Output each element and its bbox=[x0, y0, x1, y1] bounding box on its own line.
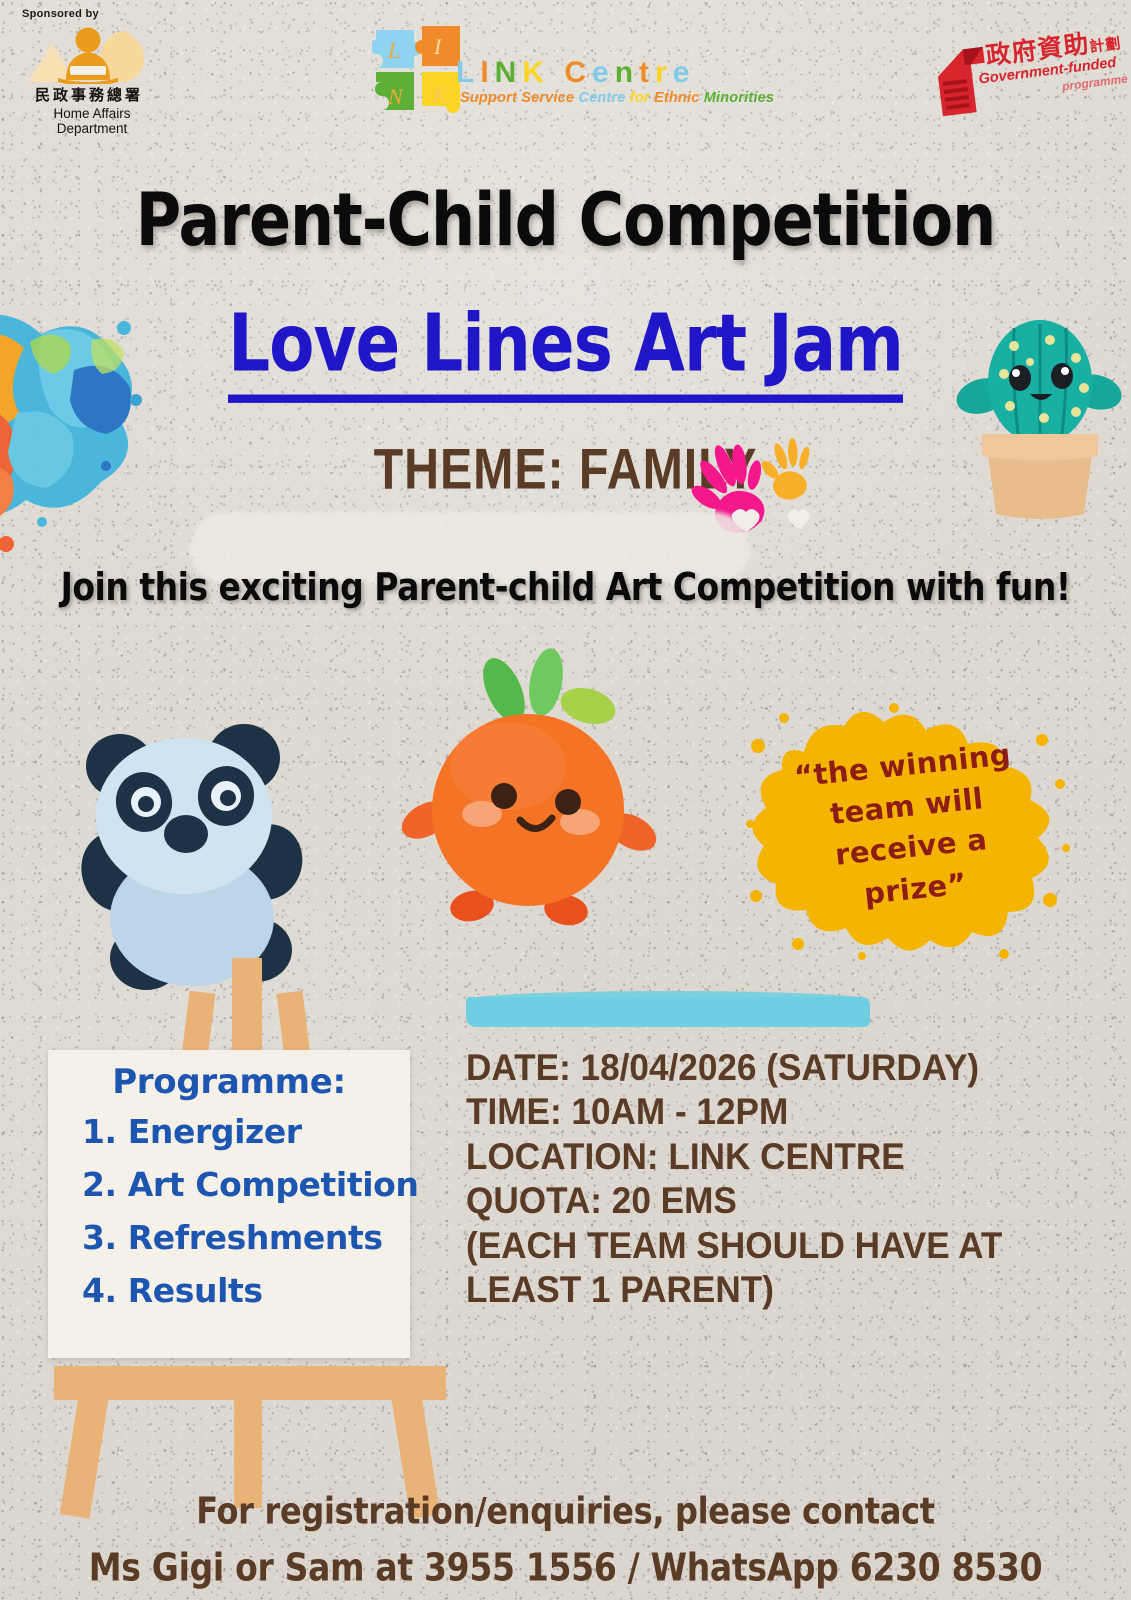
sponsored-by-label: Sponsored by bbox=[22, 8, 182, 20]
page-title: Parent-Child Competition bbox=[0, 176, 1131, 262]
event-details: DATE: 18/04/2026 (SATURDAY) TIME: 10AM -… bbox=[466, 1046, 1086, 1312]
svg-text:L: L bbox=[387, 38, 400, 63]
page-subtitle: Love Lines Art Jam bbox=[0, 297, 1131, 389]
programme-list: 1. Energizer 2. Art Competition 3. Refre… bbox=[48, 1102, 410, 1310]
programme-item: 1. Energizer bbox=[82, 1112, 410, 1151]
blue-brush-stroke-decoration bbox=[466, 997, 870, 1027]
had-name-en: Home Affairs Department bbox=[22, 106, 162, 136]
programme-item: 3. Refreshments bbox=[82, 1218, 410, 1257]
contact-footer: For registration/enquiries, please conta… bbox=[0, 1492, 1131, 1587]
programme-title: Programme: bbox=[48, 1050, 410, 1102]
detail-team-note-line1: (EACH TEAM SHOULD HAVE AT bbox=[466, 1224, 1055, 1268]
detail-time: TIME: 10AM - 12PM bbox=[466, 1090, 1055, 1134]
prize-badge-text: “the winning team will receive a prize” bbox=[770, 732, 1048, 923]
contact-line-2: Ms Gigi or Sam at 3955 1556 / WhatsApp 6… bbox=[0, 1545, 1131, 1590]
poster-canvas: Sponsored by 民政事務總署 Home Affairs Departm… bbox=[0, 0, 1131, 1600]
had-emblem-icon bbox=[22, 22, 182, 84]
svg-text:N: N bbox=[387, 84, 404, 109]
detail-quota: QUOTA: 20 EMS bbox=[466, 1179, 1055, 1223]
detail-location: LOCATION: LINK CENTRE bbox=[466, 1135, 1055, 1179]
detail-date: DATE: 18/04/2026 (SATURDAY) bbox=[466, 1046, 1055, 1090]
tagline-text: Join this exciting Parent-child Art Comp… bbox=[0, 564, 1131, 609]
link-centre-name: LINK Centre bbox=[456, 56, 695, 90]
svg-text:K: K bbox=[431, 82, 448, 107]
had-name-zh: 民政事務總署 bbox=[22, 84, 156, 105]
programme-canvas: Programme: 1. Energizer 2. Art Competiti… bbox=[48, 1050, 410, 1358]
clay-orange-character-decoration bbox=[396, 644, 664, 930]
theme-heading: THEME: FAMILY bbox=[40, 437, 1092, 503]
contact-line-1: For registration/enquiries, please conta… bbox=[0, 1489, 1131, 1533]
link-centre-logo: L I N K LINK Centre Support Service Cent… bbox=[372, 24, 752, 116]
clay-panda-decoration bbox=[48, 706, 338, 994]
programme-item: 2. Art Competition bbox=[82, 1165, 410, 1204]
programme-item: 4. Results bbox=[82, 1271, 410, 1310]
link-centre-tagline: Support Service Centre for Ethnic Minori… bbox=[460, 90, 774, 106]
home-affairs-department-logo: Sponsored by 民政事務總署 Home Affairs Departm… bbox=[22, 8, 182, 136]
detail-team-note-line2: LEAST 1 PARENT) bbox=[466, 1268, 1055, 1312]
